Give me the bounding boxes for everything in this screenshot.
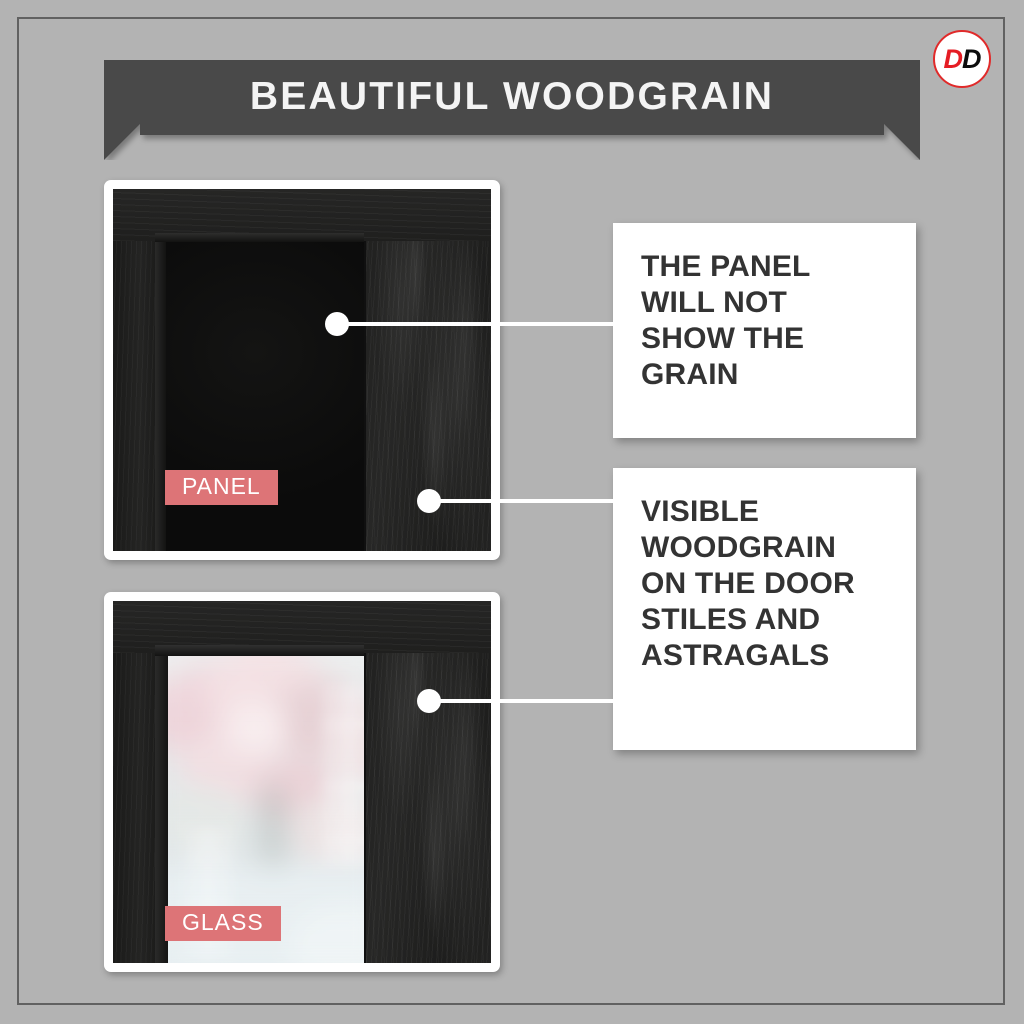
connector-line-1: [345, 322, 620, 326]
callout-dot-2[interactable]: [417, 489, 441, 513]
dd-logo[interactable]: DD: [933, 30, 991, 88]
panel-bevel-top: [155, 233, 364, 242]
glass-frame-top: [155, 645, 364, 656]
callout-2-text: VISIBLE WOODGRAIN ON THE DOOR STILES AND…: [641, 494, 888, 674]
infographic-canvas: BEAUTIFUL WOODGRAIN DD PANEL: [0, 0, 1024, 1024]
callout-1-text: THE PANEL WILL NOT SHOW THE GRAIN: [641, 249, 888, 393]
glass-door-card[interactable]: GLASS: [104, 592, 500, 972]
left-stile: [113, 189, 158, 551]
connector-line-2: [437, 499, 620, 503]
callout-dot-3[interactable]: [417, 689, 441, 713]
glass-door-photo: GLASS: [113, 601, 491, 963]
logo-letter-2: D: [962, 44, 981, 74]
panel-tag: PANEL: [165, 470, 278, 505]
callout-dot-1[interactable]: [325, 312, 349, 336]
callout-panel-grain[interactable]: THE PANEL WILL NOT SHOW THE GRAIN: [613, 223, 916, 438]
logo-letters: DD: [944, 46, 981, 73]
logo-letter-1: D: [944, 44, 963, 74]
woodgrain-stile: [366, 601, 491, 963]
glass-tag: GLASS: [165, 906, 281, 941]
page-title: BEAUTIFUL WOODGRAIN: [0, 60, 1024, 134]
left-stile: [113, 601, 158, 963]
callout-visible-woodgrain[interactable]: VISIBLE WOODGRAIN ON THE DOOR STILES AND…: [613, 468, 916, 750]
connector-line-3: [437, 699, 620, 703]
